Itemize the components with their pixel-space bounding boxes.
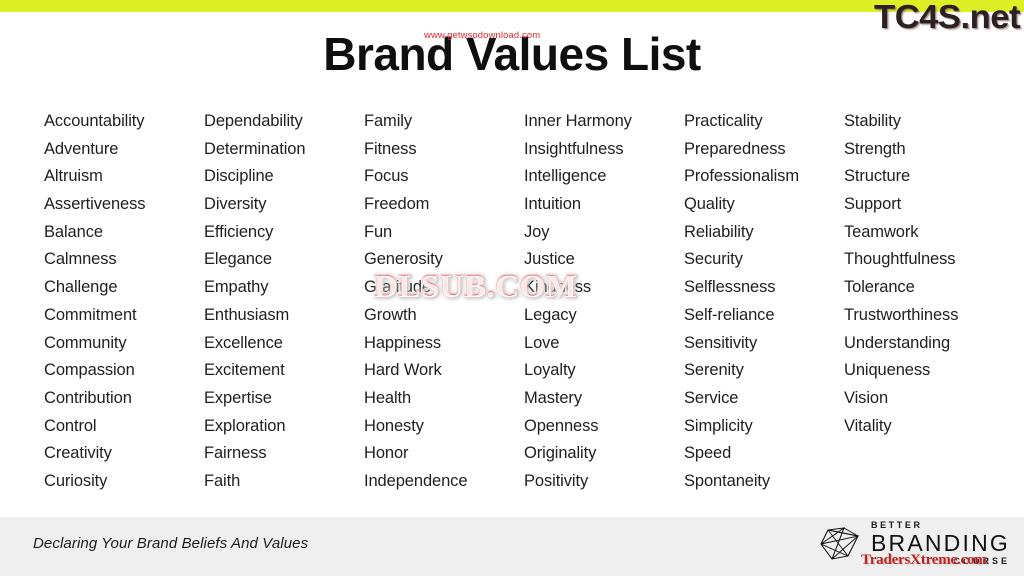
value-item: Challenge [44, 274, 204, 302]
value-item: Accountability [44, 108, 204, 136]
value-item: Joy [524, 219, 684, 247]
value-item: Contribution [44, 385, 204, 413]
value-item: Love [524, 330, 684, 358]
value-item: Balance [44, 219, 204, 247]
value-item: Empathy [204, 274, 364, 302]
value-item: Inner Harmony [524, 108, 684, 136]
value-item: Exploration [204, 413, 364, 441]
value-item: Self-reliance [684, 302, 844, 330]
value-item: Service [684, 385, 844, 413]
value-column-6: StabilityStrengthStructureSupportTeamwor… [844, 108, 1004, 496]
value-item: Discipline [204, 163, 364, 191]
value-item: Compassion [44, 357, 204, 385]
value-item: Hard Work [364, 357, 524, 385]
value-item: Excellence [204, 330, 364, 358]
watermark-url-top: www.getwsodownload.com [424, 30, 540, 41]
value-item: Insightfulness [524, 136, 684, 164]
value-item: Teamwork [844, 219, 1004, 247]
value-item: Calmness [44, 246, 204, 274]
value-item: Expertise [204, 385, 364, 413]
value-item: Trustworthiness [844, 302, 1004, 330]
value-item: Adventure [44, 136, 204, 164]
value-item: Creativity [44, 440, 204, 468]
value-item: Support [844, 191, 1004, 219]
value-item: Reliability [684, 219, 844, 247]
value-item: Serenity [684, 357, 844, 385]
value-item: Professionalism [684, 163, 844, 191]
value-item: Family [364, 108, 524, 136]
value-item: Assertiveness [44, 191, 204, 219]
value-item: Quality [684, 191, 844, 219]
value-item: Structure [844, 163, 1004, 191]
value-item: Dependability [204, 108, 364, 136]
value-item: Intelligence [524, 163, 684, 191]
value-item: Fitness [364, 136, 524, 164]
value-item: Mastery [524, 385, 684, 413]
slide-canvas: TC4S.net Brand Values List www.getwsodow… [0, 0, 1024, 576]
value-item: Strength [844, 136, 1004, 164]
value-item: Vision [844, 385, 1004, 413]
value-item: Positivity [524, 468, 684, 496]
value-item: Health [364, 385, 524, 413]
value-item: Practicality [684, 108, 844, 136]
value-item: Selflessness [684, 274, 844, 302]
value-item: Thoughtfulness [844, 246, 1004, 274]
value-item: Speed [684, 440, 844, 468]
value-item: Excitement [204, 357, 364, 385]
value-item: Intuition [524, 191, 684, 219]
value-item: Spontaneity [684, 468, 844, 496]
value-item: Freedom [364, 191, 524, 219]
value-item: Enthusiasm [204, 302, 364, 330]
value-item: Control [44, 413, 204, 441]
value-item: Curiosity [44, 468, 204, 496]
value-item: Growth [364, 302, 524, 330]
value-item: Originality [524, 440, 684, 468]
value-item: Security [684, 246, 844, 274]
value-item: Simplicity [684, 413, 844, 441]
top-accent-bar [0, 0, 1024, 12]
value-item: Diversity [204, 191, 364, 219]
value-item: Faith [204, 468, 364, 496]
value-item: Legacy [524, 302, 684, 330]
value-item: Elegance [204, 246, 364, 274]
value-item: Preparedness [684, 136, 844, 164]
value-item: Stability [844, 108, 1004, 136]
footer-tagline: Declaring Your Brand Beliefs And Values [33, 535, 308, 552]
value-item: Independence [364, 468, 524, 496]
value-item: Loyalty [524, 357, 684, 385]
value-item: Community [44, 330, 204, 358]
value-item: Happiness [364, 330, 524, 358]
value-item: Openness [524, 413, 684, 441]
value-item: Tolerance [844, 274, 1004, 302]
value-item: Sensitivity [684, 330, 844, 358]
value-item: Efficiency [204, 219, 364, 247]
site-brandmark: TC4S.net [874, 0, 1020, 36]
value-item: Commitment [44, 302, 204, 330]
value-item: Fun [364, 219, 524, 247]
value-item: Honor [364, 440, 524, 468]
value-item: Determination [204, 136, 364, 164]
footer-logo-line1: BETTER [871, 521, 1010, 530]
diamond-icon [818, 526, 862, 562]
value-item: Uniqueness [844, 357, 1004, 385]
watermark-traders: TradersXtreme.com [861, 552, 987, 569]
value-item: Focus [364, 163, 524, 191]
value-item: Altruism [44, 163, 204, 191]
value-item: Vitality [844, 413, 1004, 441]
value-column-2: DependabilityDeterminationDisciplineDive… [204, 108, 364, 496]
value-item: Fairness [204, 440, 364, 468]
value-column-5: PracticalityPreparednessProfessionalismQ… [684, 108, 844, 496]
value-item: Understanding [844, 330, 1004, 358]
value-item: Honesty [364, 413, 524, 441]
value-column-1: AccountabilityAdventureAltruismAssertive… [44, 108, 204, 496]
watermark-dlsub-banner: DLSUB.COM [368, 268, 583, 305]
